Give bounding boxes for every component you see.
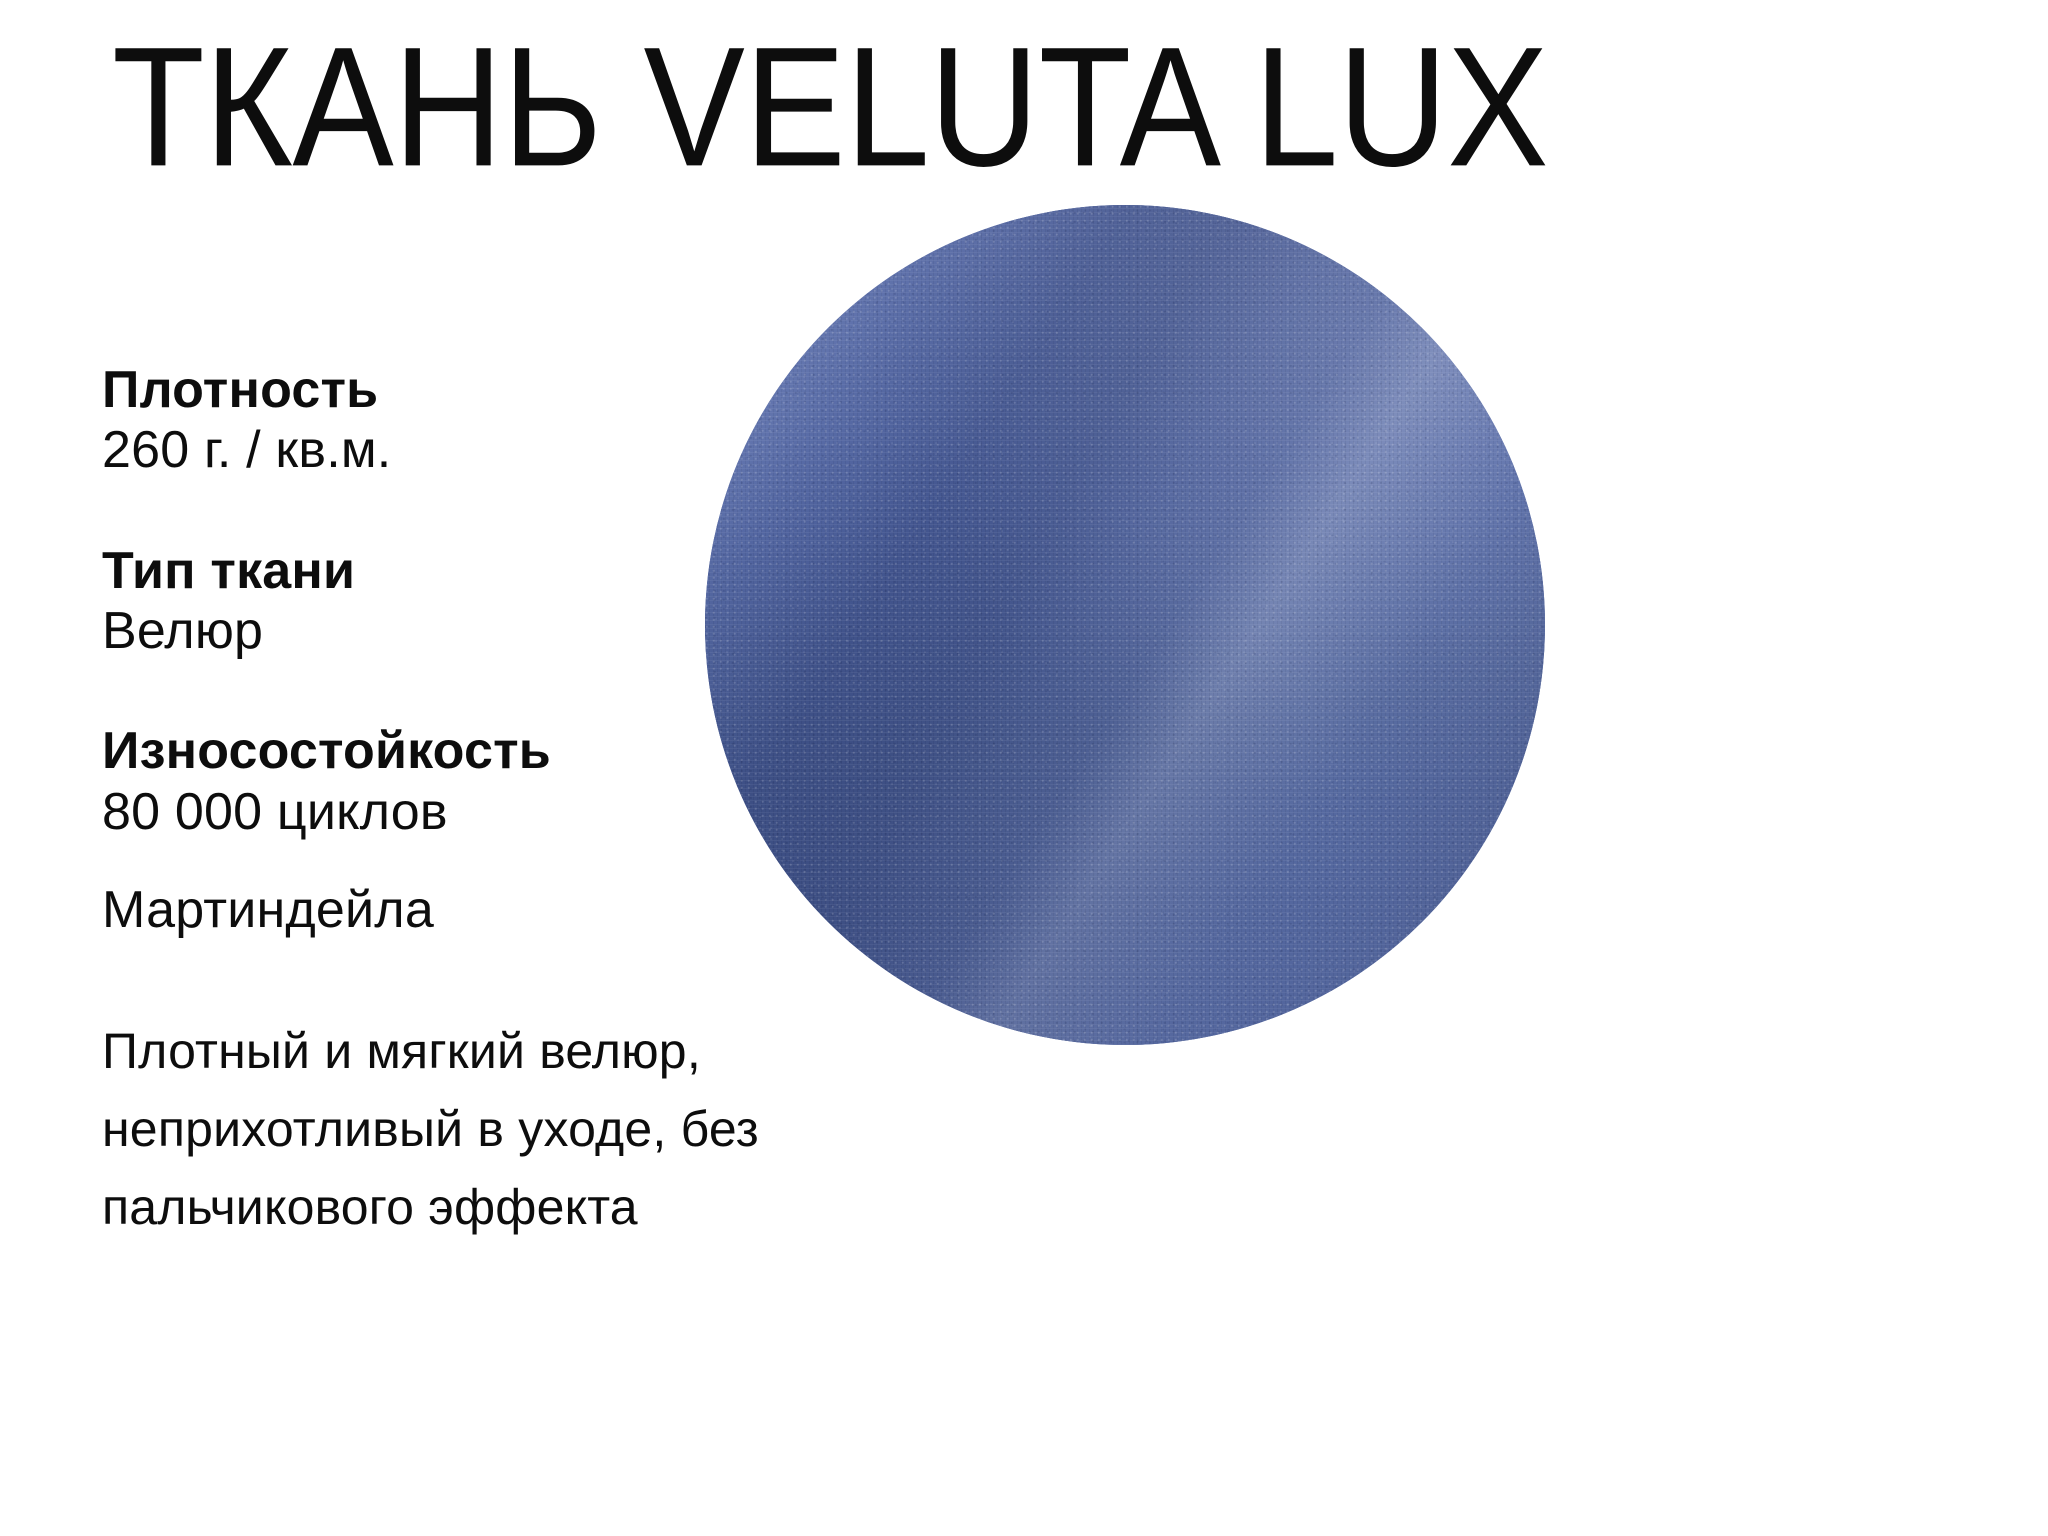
fabric-description-line-3: пальчикового эффекта (102, 1168, 902, 1246)
fabric-description: Плотный и мягкий велюр, неприхотливый в … (102, 1012, 902, 1246)
page-title: ТКАНЬ VELUTA LUX (112, 22, 1992, 192)
fabric-description-line-2: неприхотливый в уходе, без (102, 1090, 902, 1168)
fabric-swatch-circle (705, 205, 1545, 1045)
fabric-spec-slide: ТКАНЬ VELUTA LUX Плотность 260 г. / кв.м… (0, 0, 2048, 1536)
swatch-pile-grain (705, 205, 1545, 1045)
